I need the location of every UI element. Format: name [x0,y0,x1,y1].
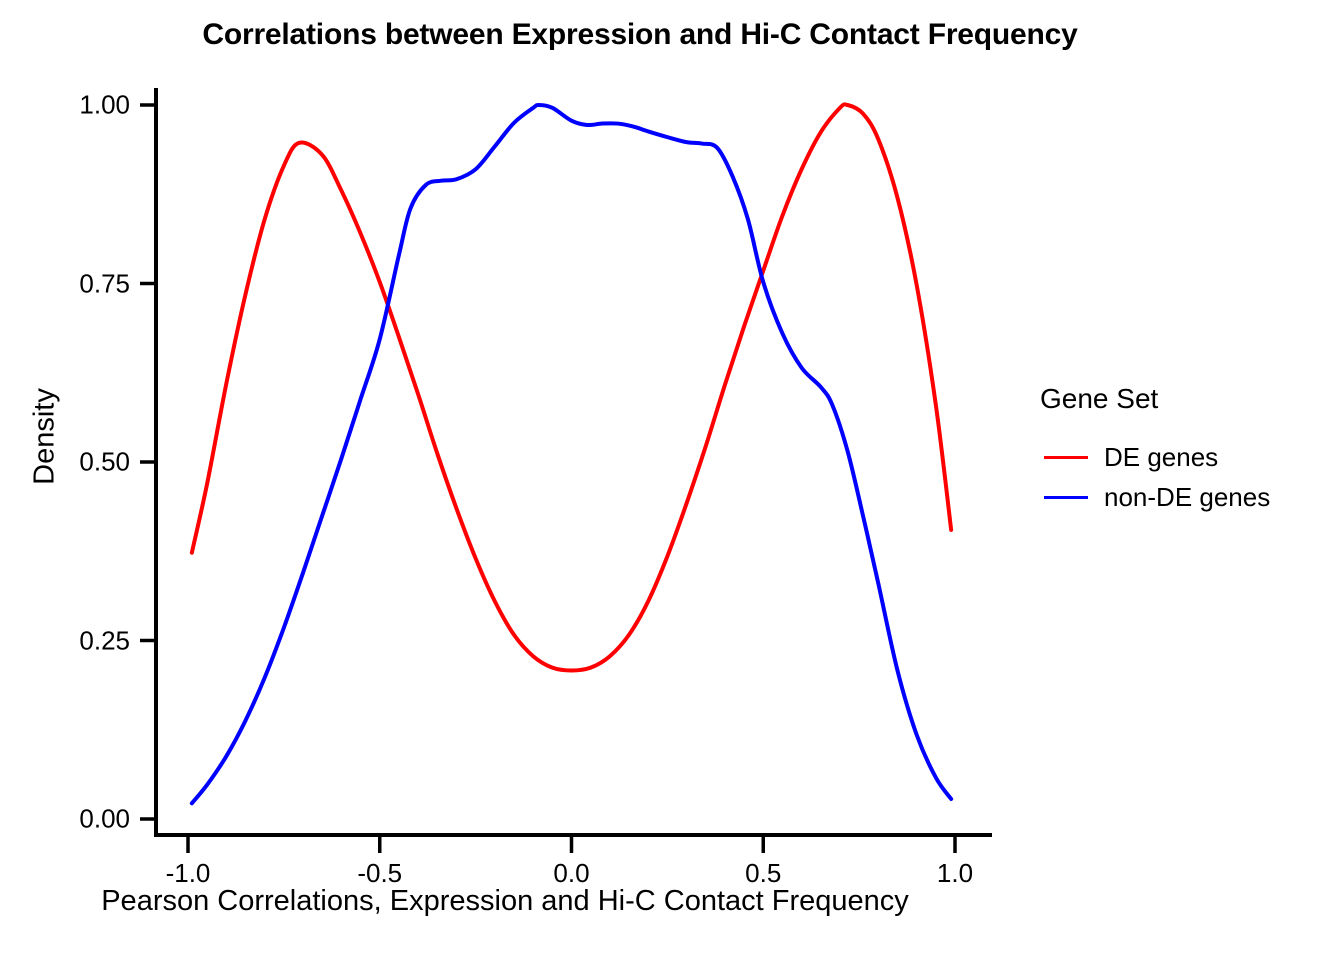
y-axis-tick-label: 0.50 [0,447,130,478]
density-plot-figure: Correlations between Expression and Hi-C… [0,0,1344,960]
legend-item-label: DE genes [1092,442,1218,473]
y-axis-ticks [140,105,156,819]
y-axis-tick-label: 1.00 [0,90,130,121]
y-axis-tick-label: 0.75 [0,268,130,299]
y-axis-title: Density [29,337,62,537]
x-axis-ticks [188,837,955,853]
legend-line-swatch-icon [1040,480,1092,514]
legend-item[interactable]: non-DE genes [1040,477,1340,517]
legend-line-swatch-icon [1040,440,1092,474]
legend: Gene Set DE genesnon-DE genes [1040,383,1340,517]
x-axis-title: Pearson Correlations, Expression and Hi-… [0,885,1010,918]
axis-lines [154,88,992,836]
density-curves [192,104,951,803]
legend-entries: DE genesnon-DE genes [1040,437,1340,517]
y-axis-tick-label: 0.25 [0,625,130,656]
legend-item[interactable]: DE genes [1040,437,1340,477]
y-axis-tick-label: 0.00 [0,804,130,835]
legend-item-label: non-DE genes [1092,482,1270,513]
legend-title: Gene Set [1040,383,1340,415]
density-curve [192,104,951,670]
density-curve [192,105,951,803]
